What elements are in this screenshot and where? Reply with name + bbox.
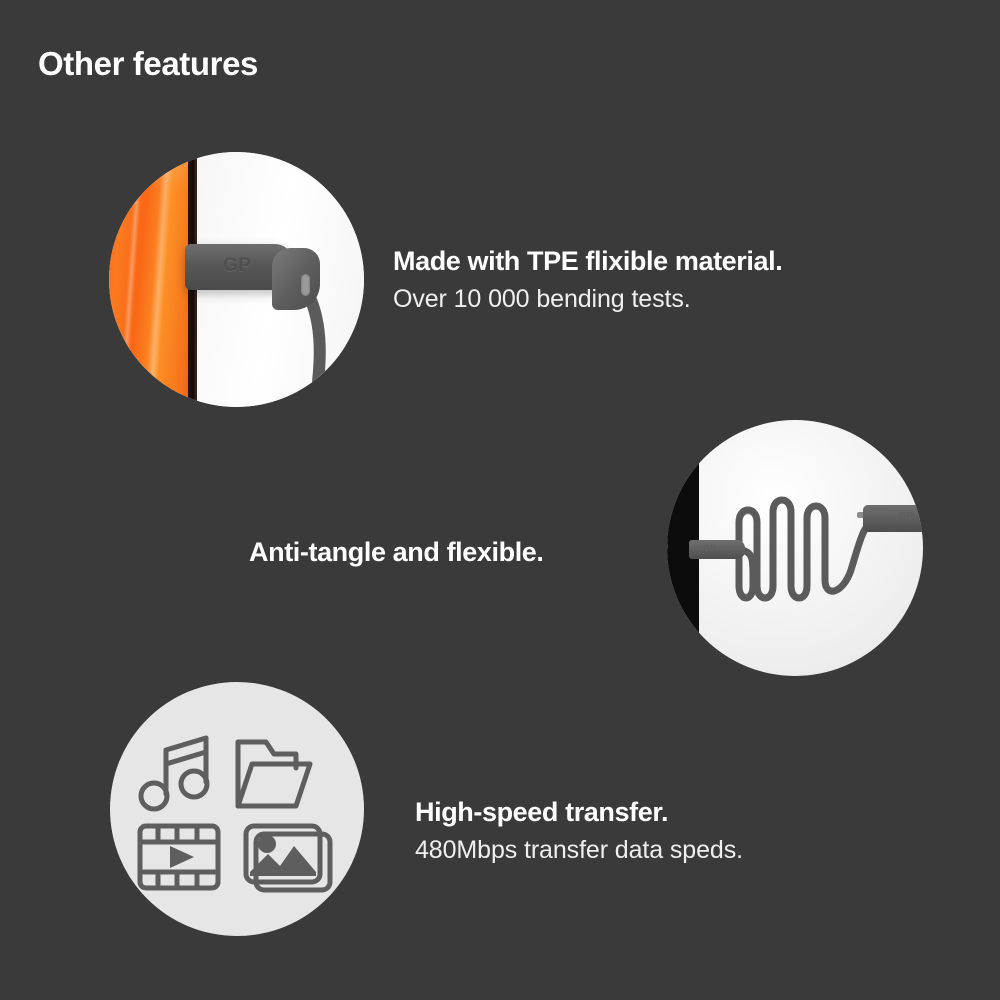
- brand-logo-gp: GP: [899, 511, 913, 522]
- music-note-icon: [141, 738, 207, 809]
- feature-subtext: Over 10 000 bending tests.: [393, 283, 782, 316]
- feature-text-anti-tangle: Anti-tangle and flexible.: [249, 536, 544, 570]
- infographic-page: Other features GP Made with TPE flixible…: [0, 0, 1000, 1000]
- folder-icon: [238, 742, 310, 806]
- connector-strain-relief: [272, 248, 320, 310]
- page-title: Other features: [38, 45, 258, 83]
- usb-c-connector-left: GP: [689, 540, 745, 559]
- feature-image-anti-tangle: GP GP: [667, 420, 923, 676]
- feature-text-high-speed-transfer: High-speed transfer. 480Mbps transfer da…: [415, 796, 743, 866]
- feature-image-tpe-material: GP: [109, 152, 364, 407]
- feature-heading: Made with TPE flixible material.: [393, 245, 782, 279]
- feature-image-high-speed-transfer: [110, 682, 364, 936]
- feature-heading: Anti-tangle and flexible.: [249, 536, 544, 570]
- usb-a-connector-right: GP: [863, 505, 923, 532]
- feature-heading: High-speed transfer.: [415, 796, 743, 830]
- brand-logo-gp: GP: [223, 255, 251, 277]
- photo-icon: [246, 826, 330, 890]
- feature-subtext: 480Mbps transfer data speds.: [415, 834, 743, 867]
- phone-screen-wallpaper: [109, 152, 194, 407]
- feature-text-tpe-material: Made with TPE flixible material. Over 10…: [393, 245, 782, 315]
- film-icon: [140, 826, 218, 888]
- brand-logo-gp: GP: [703, 543, 716, 553]
- connector-slot: [301, 274, 310, 296]
